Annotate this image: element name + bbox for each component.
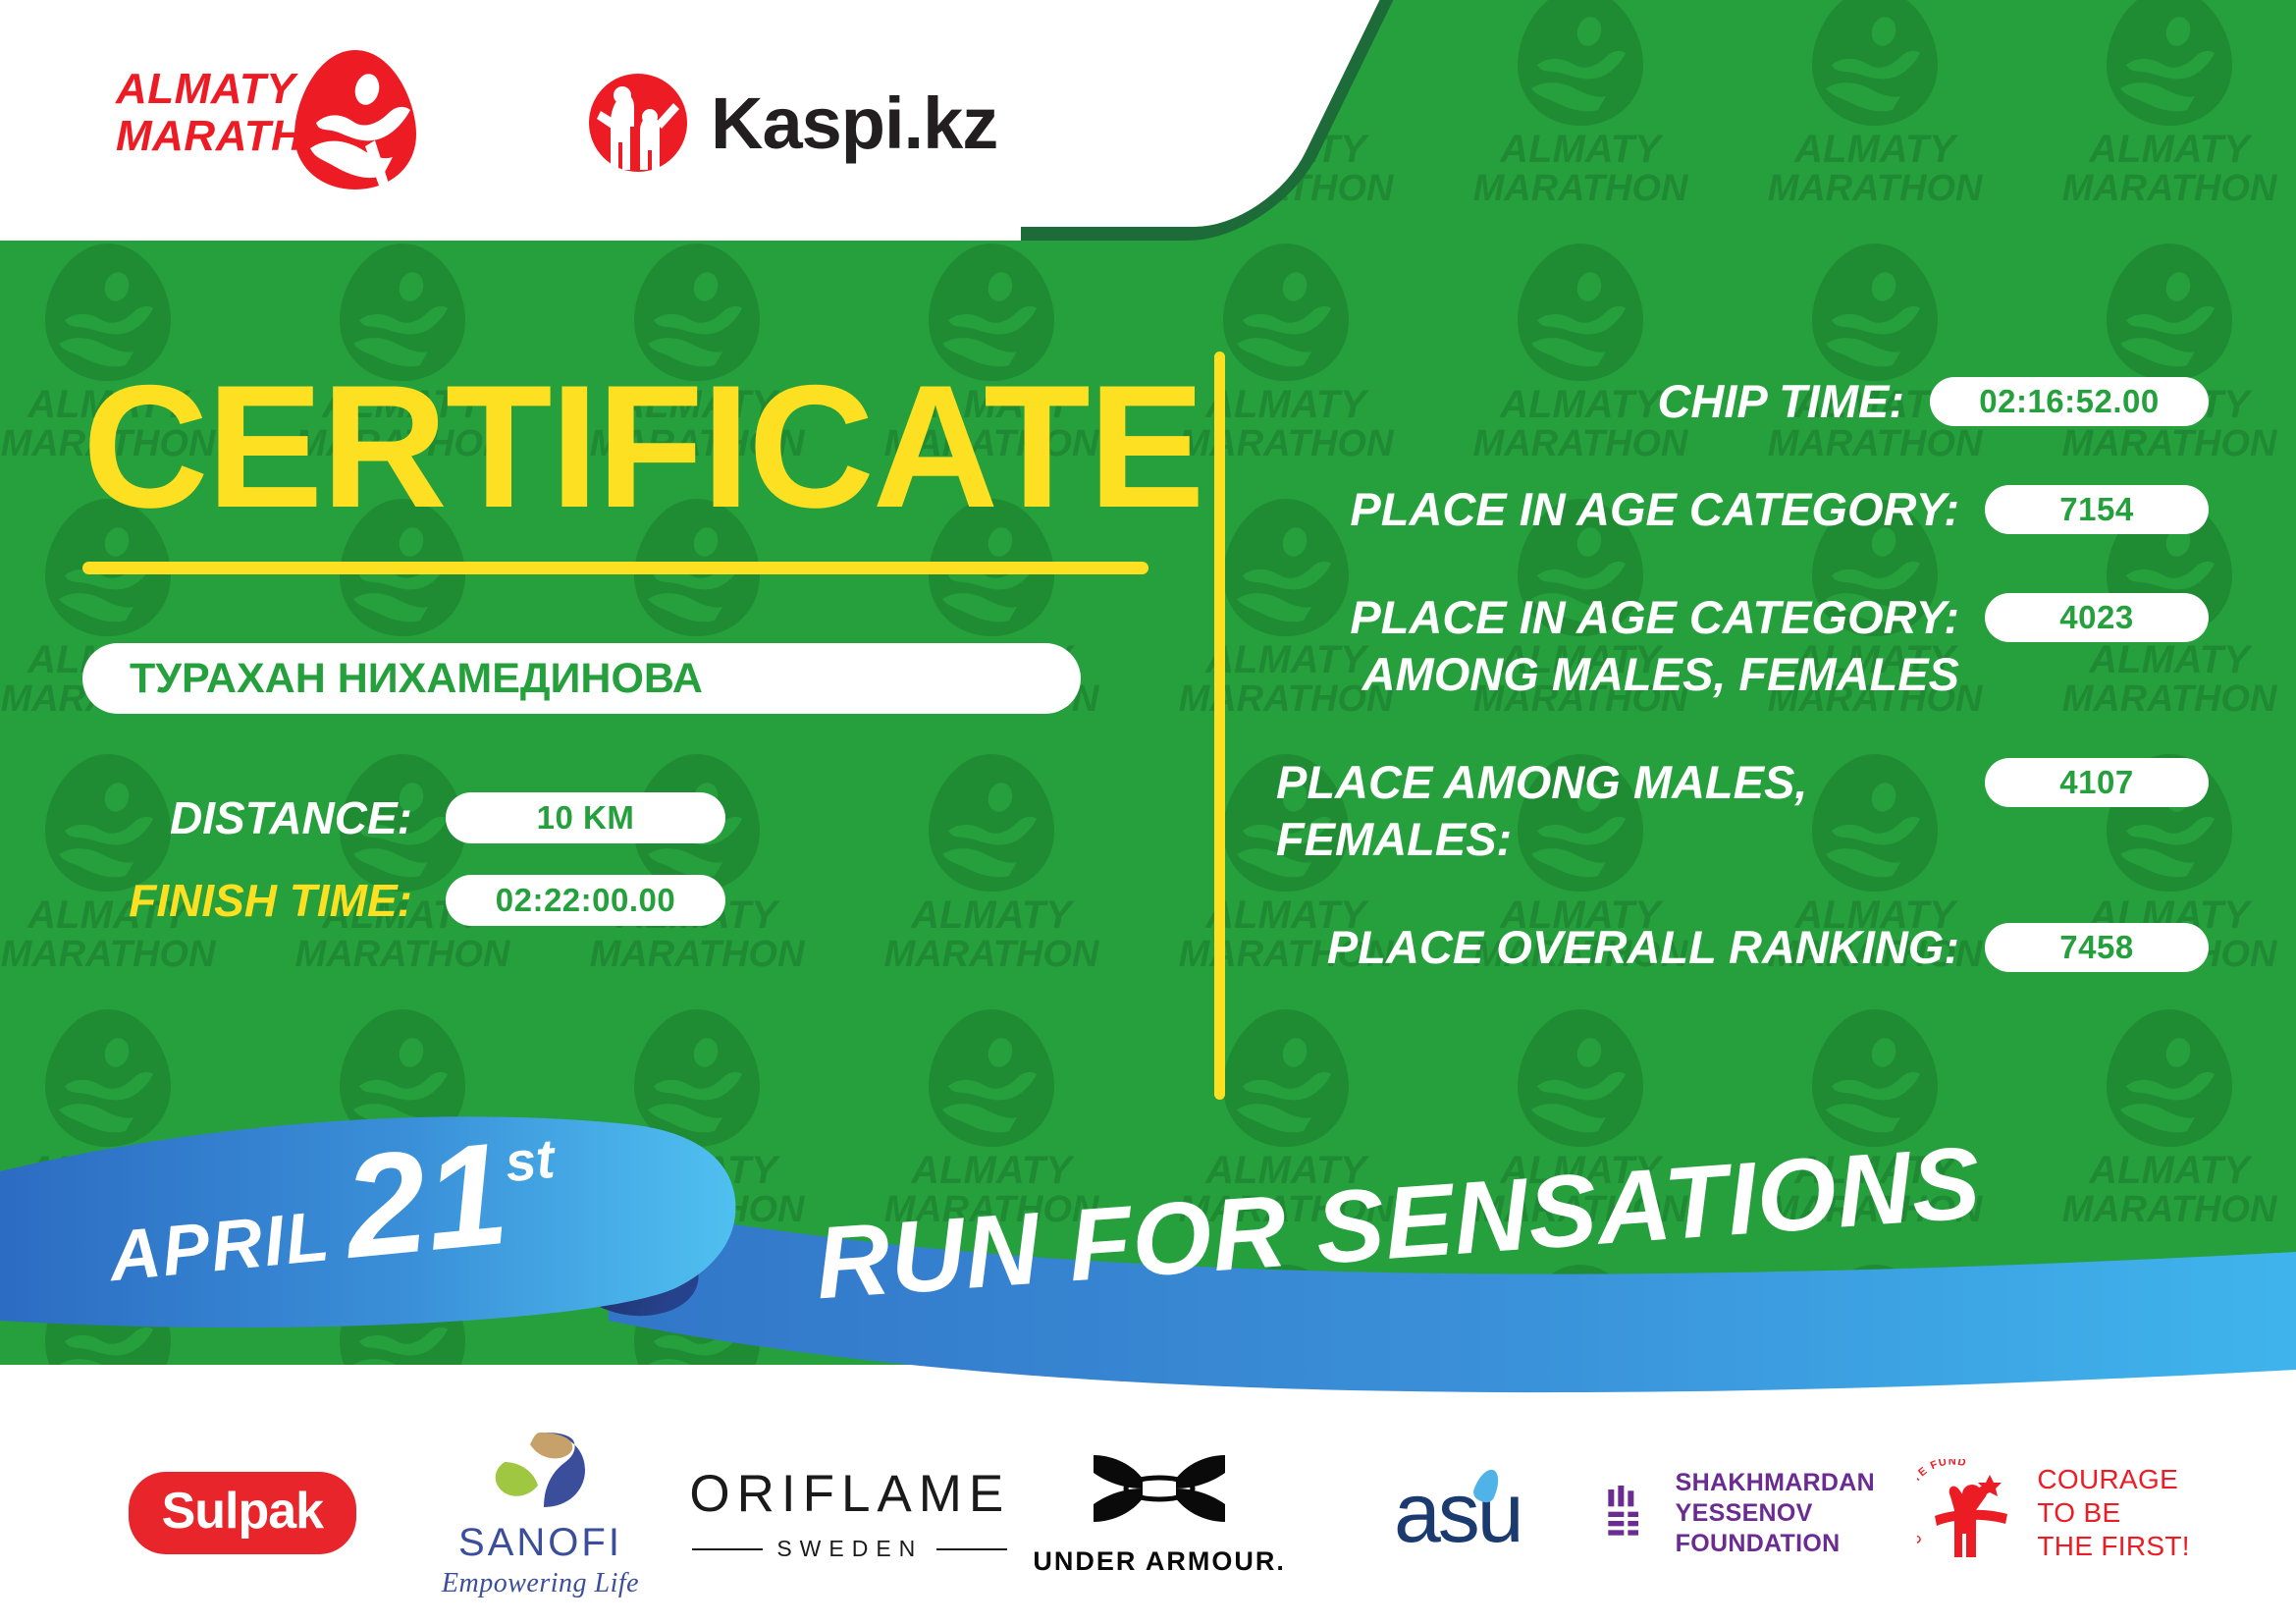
field-row-finish-time: FINISH TIME: 02:22:00.00	[82, 859, 1152, 942]
title-divider-rule	[82, 562, 1148, 574]
sponsors-bar: Sulpak SANOFI Empowering Life ORIFLAME S…	[0, 1402, 2296, 1624]
certificate-left-column: CERTIFICATE ТУРАХАН НИХАМЕДИНОВА DISTANC…	[82, 363, 1152, 942]
finish-time-value-pill: 02:22:00.00	[446, 875, 725, 926]
certificate-fields: DISTANCE: 10 KM FINISH TIME: 02:22:00.00	[82, 777, 1152, 942]
chip-time-value-pill: 02:16:52.00	[1930, 377, 2209, 426]
result-row-place-age-category-gender: PLACE IN AGE CATEGORY: AMONG MALES, FEMA…	[1276, 589, 2209, 703]
participant-name: ТУРАХАН НИХАМЕДИНОВА	[130, 655, 703, 703]
ribbon-day-suffix: st	[503, 1126, 558, 1194]
asu-wordmark: asu	[1394, 1465, 1522, 1562]
sponsor-oriflame: ORIFLAME SWEDEN	[689, 1464, 1010, 1562]
oriflame-rule-left	[692, 1548, 763, 1550]
place-overall-label: PLACE OVERALL RANKING:	[1276, 919, 1985, 976]
courage-to-be-the-first-icon: CORPORATE FUND	[1917, 1459, 2023, 1567]
sanofi-swoosh-icon	[483, 1429, 599, 1513]
kaspi-logo: Kaspi.kz	[587, 72, 997, 174]
sponsor-yessenov-foundation: SHAKHMARDAN YESSENOV FOUNDATION	[1607, 1468, 1905, 1559]
place-age-category-value-pill: 7154	[1985, 485, 2209, 534]
oriflame-wordmark: ORIFLAME	[689, 1464, 1010, 1524]
column-divider	[1214, 352, 1225, 1100]
oriflame-subtitle: SWEDEN	[776, 1536, 923, 1562]
sanofi-wordmark: SANOFI	[442, 1523, 639, 1562]
yessenov-wordmark: SHAKHMARDAN YESSENOV FOUNDATION	[1676, 1468, 1905, 1559]
under-armour-wordmark: UNDER ARMOUR.	[1033, 1546, 1286, 1577]
header-logos: ALMATY MARATHON Kaspi.kz	[0, 0, 1178, 245]
place-age-category-value: 7154	[2059, 491, 2133, 528]
result-row-place-age-category: PLACE IN AGE CATEGORY: 7154	[1276, 481, 2209, 538]
kaspi-people-icon	[587, 72, 689, 174]
courage-line2: TO BE	[2037, 1496, 2189, 1530]
place-age-category-label: PLACE IN AGE CATEGORY:	[1276, 481, 1985, 538]
finish-time-value: 02:22:00.00	[496, 882, 675, 919]
participant-name-field: ТУРАХАН НИХАМЕДИНОВА	[82, 643, 1081, 714]
courage-line3: THE FIRST!	[2037, 1530, 2189, 1563]
chip-time-label: CHIP TIME:	[1276, 373, 1930, 430]
result-row-place-among-gender: PLACE AMONG MALES, FEMALES: 4107	[1276, 754, 2209, 868]
result-row-place-overall: PLACE OVERALL RANKING: 7458	[1276, 919, 2209, 976]
sulpak-wordmark: Sulpak	[129, 1472, 357, 1554]
courage-line1: COURAGE	[2037, 1463, 2189, 1496]
place-overall-value-pill: 7458	[1985, 923, 2209, 972]
place-among-gender-label-line2: FEMALES:	[1276, 811, 1959, 868]
place-age-category-gender-value-pill: 4023	[1985, 593, 2209, 642]
place-age-category-gender-label-line1: PLACE IN AGE CATEGORY:	[1276, 589, 1959, 646]
place-among-gender-value-pill: 4107	[1985, 758, 2209, 807]
courage-wordmark: COURAGE TO BE THE FIRST!	[2037, 1463, 2189, 1563]
sponsor-sanofi: SANOFI Empowering Life	[392, 1429, 690, 1597]
distance-value: 10 KM	[537, 799, 635, 837]
yessenov-line1: SHAKHMARDAN YESSENOV	[1676, 1468, 1905, 1529]
oriflame-rule-right	[936, 1548, 1007, 1550]
place-age-category-gender-label: PLACE IN AGE CATEGORY: AMONG MALES, FEMA…	[1276, 589, 1985, 703]
place-overall-value: 7458	[2059, 929, 2133, 966]
sponsor-sulpak: Sulpak	[93, 1472, 392, 1554]
place-among-gender-label-line1: PLACE AMONG MALES,	[1276, 754, 1959, 811]
distance-label: DISTANCE:	[82, 791, 446, 844]
sponsor-under-armour: UNDER ARMOUR.	[1010, 1449, 1308, 1577]
result-row-chip-time: CHIP TIME: 02:16:52.00	[1276, 373, 2209, 430]
place-among-gender-label: PLACE AMONG MALES, FEMALES:	[1276, 754, 1985, 868]
oriflame-sub-row: SWEDEN	[689, 1536, 1010, 1562]
yessenov-line2: FOUNDATION	[1676, 1529, 1905, 1559]
place-age-category-gender-label-line2: AMONG MALES, FEMALES	[1276, 646, 1959, 703]
asu-text: asu	[1394, 1466, 1522, 1560]
almaty-marathon-runner-icon	[291, 46, 420, 193]
field-row-distance: DISTANCE: 10 KM	[82, 777, 1152, 859]
results-column: CHIP TIME: 02:16:52.00 PLACE IN AGE CATE…	[1276, 373, 2209, 1027]
certificate-page: ALMATY MARATHON ALMATY MARATHON	[0, 0, 2296, 1624]
sanofi-tagline: Empowering Life	[442, 1570, 639, 1597]
under-armour-logo-icon	[1086, 1449, 1233, 1534]
almaty-marathon-logo: ALMATY MARATHON	[116, 44, 420, 201]
event-ribbon: APRIL 21 st RUN FOR SENSATIONS	[0, 1085, 2296, 1399]
yessenov-bars-icon	[1607, 1472, 1650, 1554]
sponsor-corporate-fund: CORPORATE FUND COURAGE TO BE THE FIRST!	[1904, 1459, 2203, 1567]
place-among-gender-value: 4107	[2059, 764, 2133, 801]
page-title: CERTIFICATE	[82, 363, 1152, 530]
place-age-category-gender-value: 4023	[2059, 599, 2133, 636]
ribbon-day: 21	[340, 1135, 511, 1268]
kaspi-wordmark: Kaspi.kz	[711, 81, 997, 165]
sponsor-asu: asu	[1308, 1465, 1607, 1562]
distance-value-pill: 10 KM	[446, 792, 725, 843]
chip-time-value: 02:16:52.00	[1979, 383, 2159, 420]
finish-time-label: FINISH TIME:	[82, 874, 446, 927]
